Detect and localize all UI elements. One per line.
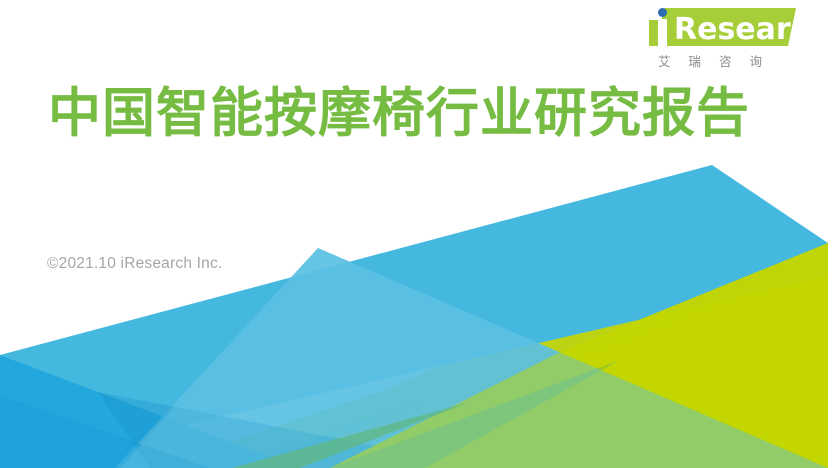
page-title: 中国智能按摩椅行业研究报告 — [48, 84, 750, 143]
iresearch-logo-mark: Research — [622, 6, 798, 48]
report-cover-slide: Research 艾 瑞 咨 询 中国智能按摩椅行业研究报告 ©2021.10 … — [0, 0, 832, 468]
logo-wordmark-text: Research — [674, 12, 798, 47]
iresearch-logo: Research 艾 瑞 咨 询 — [622, 6, 798, 70]
logo-dot-icon — [658, 8, 667, 17]
logo-parallelogram-icon: Research — [622, 6, 798, 48]
layered-mountain-graphic — [0, 0, 832, 468]
logo-subtitle: 艾 瑞 咨 询 — [622, 51, 798, 70]
copyright-notice: ©2021.10 iResearch Inc. — [47, 255, 222, 273]
